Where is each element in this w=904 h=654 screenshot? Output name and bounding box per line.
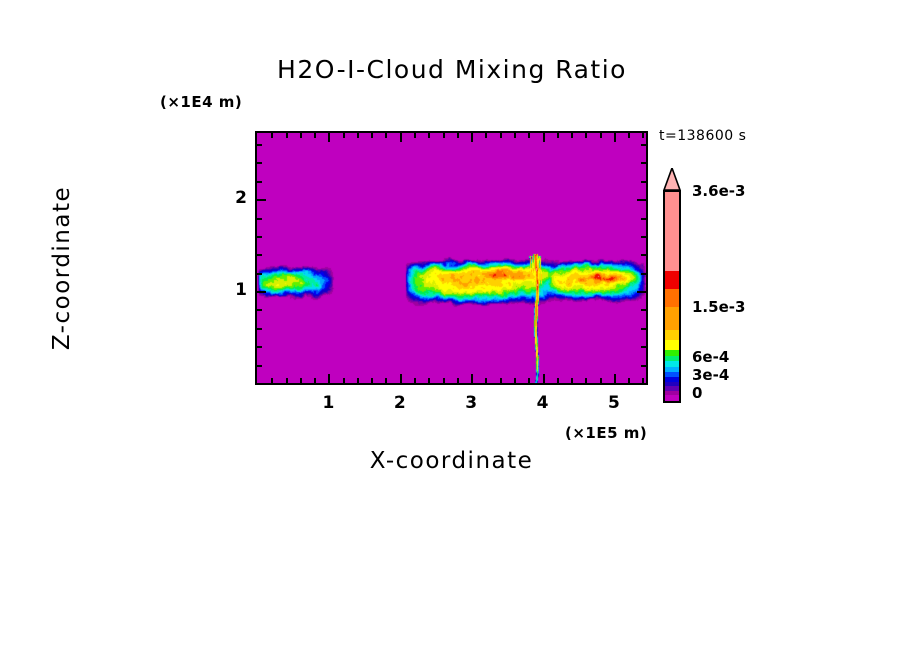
x-tick-top: [628, 133, 630, 138]
colorbar-segment: [665, 386, 679, 391]
colorbar-segment: [665, 340, 679, 350]
colorbar: [663, 190, 681, 403]
time-annotation: t=138600 s: [659, 128, 746, 144]
x-tick-bottom: [343, 378, 345, 383]
x-tick-top: [557, 133, 559, 138]
x-tick-bottom: [628, 378, 630, 383]
x-tick-top: [514, 133, 516, 138]
x-axis-title: X-coordinate: [255, 448, 648, 474]
y-tick-left: [257, 199, 266, 201]
y-tick-right: [641, 254, 646, 256]
colorbar-tick-label: 3.6e-3: [692, 182, 745, 200]
x-tick-bottom: [357, 378, 359, 383]
y-tick-right: [637, 291, 646, 293]
y-tick-right: [641, 218, 646, 220]
x-axis-units-label: (×1E5 m): [565, 424, 647, 442]
colorbar-segment: [665, 367, 679, 372]
y-tick-left: [257, 236, 262, 238]
y-tick-left: [257, 144, 262, 146]
y-tick-left: [257, 291, 266, 293]
colorbar-tick-label: 0: [692, 384, 702, 402]
x-tick-top: [385, 133, 387, 138]
x-tick-top: [271, 133, 273, 138]
x-tick-bottom: [571, 378, 573, 383]
colorbar-segment: [665, 330, 679, 340]
colorbar-segment: [665, 382, 679, 387]
y-tick-right: [641, 181, 646, 183]
heatmap-plot-area: [255, 131, 648, 385]
x-tick-label: 1: [308, 393, 348, 413]
y-tick-right: [641, 273, 646, 275]
x-tick-top: [600, 133, 602, 138]
x-tick-bottom: [642, 378, 644, 383]
y-tick-left: [257, 346, 262, 348]
x-tick-bottom: [428, 378, 430, 383]
y-tick-left: [257, 254, 262, 256]
y-tick-label: 1: [207, 280, 247, 300]
x-tick-bottom: [271, 378, 273, 383]
x-tick-label: 4: [523, 393, 563, 413]
x-tick-bottom: [500, 378, 502, 383]
x-tick-top: [343, 133, 345, 138]
x-tick-top: [328, 133, 330, 142]
x-tick-bottom: [314, 378, 316, 383]
x-tick-bottom: [385, 378, 387, 383]
colorbar-segment: [665, 377, 679, 382]
y-tick-right: [637, 199, 646, 201]
x-tick-top: [300, 133, 302, 138]
y-tick-left: [257, 218, 262, 220]
x-tick-label: 5: [594, 393, 634, 413]
colorbar-segment: [665, 391, 679, 395]
colorbar-segment: [665, 361, 679, 366]
y-tick-right: [641, 236, 646, 238]
y-tick-right: [641, 328, 646, 330]
x-tick-bottom: [328, 374, 330, 383]
x-tick-bottom: [414, 378, 416, 383]
x-tick-bottom: [286, 378, 288, 383]
y-tick-right: [641, 365, 646, 367]
y-tick-right: [641, 144, 646, 146]
x-tick-top: [357, 133, 359, 138]
x-tick-bottom: [371, 378, 373, 383]
colorbar-segment: [665, 372, 679, 377]
y-tick-right: [641, 346, 646, 348]
x-tick-top: [443, 133, 445, 138]
x-tick-label: 2: [380, 393, 420, 413]
x-tick-top: [400, 133, 402, 142]
x-tick-top: [371, 133, 373, 138]
x-tick-top: [642, 133, 644, 138]
x-tick-top: [500, 133, 502, 138]
x-tick-top: [485, 133, 487, 138]
x-tick-bottom: [614, 374, 616, 383]
x-tick-top: [428, 133, 430, 138]
x-tick-bottom: [514, 378, 516, 383]
x-tick-bottom: [600, 378, 602, 383]
colorbar-segment: [665, 271, 679, 289]
x-tick-top: [457, 133, 459, 138]
y-tick-left: [257, 162, 262, 164]
x-tick-label: 3: [451, 393, 491, 413]
colorbar-tick-label: 6e-4: [692, 348, 729, 366]
x-tick-top: [414, 133, 416, 138]
y-tick-left: [257, 365, 262, 367]
colorbar-segment: [665, 356, 679, 361]
colorbar-arrow-cap: [663, 168, 681, 191]
x-tick-bottom: [557, 378, 559, 383]
x-tick-bottom: [400, 374, 402, 383]
x-tick-top: [314, 133, 316, 138]
x-tick-top: [571, 133, 573, 138]
y-tick-left: [257, 328, 262, 330]
x-tick-top: [543, 133, 545, 142]
x-tick-bottom: [300, 378, 302, 383]
x-tick-bottom: [457, 378, 459, 383]
x-tick-bottom: [443, 378, 445, 383]
y-tick-left: [257, 309, 262, 311]
x-tick-top: [585, 133, 587, 138]
colorbar-segment: [665, 192, 679, 271]
x-tick-top: [286, 133, 288, 138]
x-tick-top: [528, 133, 530, 138]
x-tick-bottom: [471, 374, 473, 383]
colorbar-segment: [665, 289, 679, 307]
colorbar-segment: [665, 350, 679, 356]
y-axis-units-label: (×1E4 m): [160, 93, 242, 111]
x-tick-bottom: [585, 378, 587, 383]
x-tick-top: [471, 133, 473, 142]
x-tick-bottom: [485, 378, 487, 383]
x-tick-bottom: [543, 374, 545, 383]
x-tick-top: [614, 133, 616, 142]
colorbar-tick-label: 1.5e-3: [692, 298, 745, 316]
y-tick-left: [257, 181, 262, 183]
y-tick-right: [641, 162, 646, 164]
colorbar-tick-label: 3e-4: [692, 366, 729, 384]
y-tick-label: 2: [207, 188, 247, 208]
page-title: H2O-I-Cloud Mixing Ratio: [0, 55, 904, 84]
colorbar-segment: [665, 307, 679, 330]
colorbar-segment: [665, 395, 679, 401]
y-tick-right: [641, 309, 646, 311]
y-tick-left: [257, 273, 262, 275]
contour-field: [257, 133, 646, 383]
x-tick-bottom: [528, 378, 530, 383]
y-axis-title: Z-coordinate: [49, 118, 75, 418]
